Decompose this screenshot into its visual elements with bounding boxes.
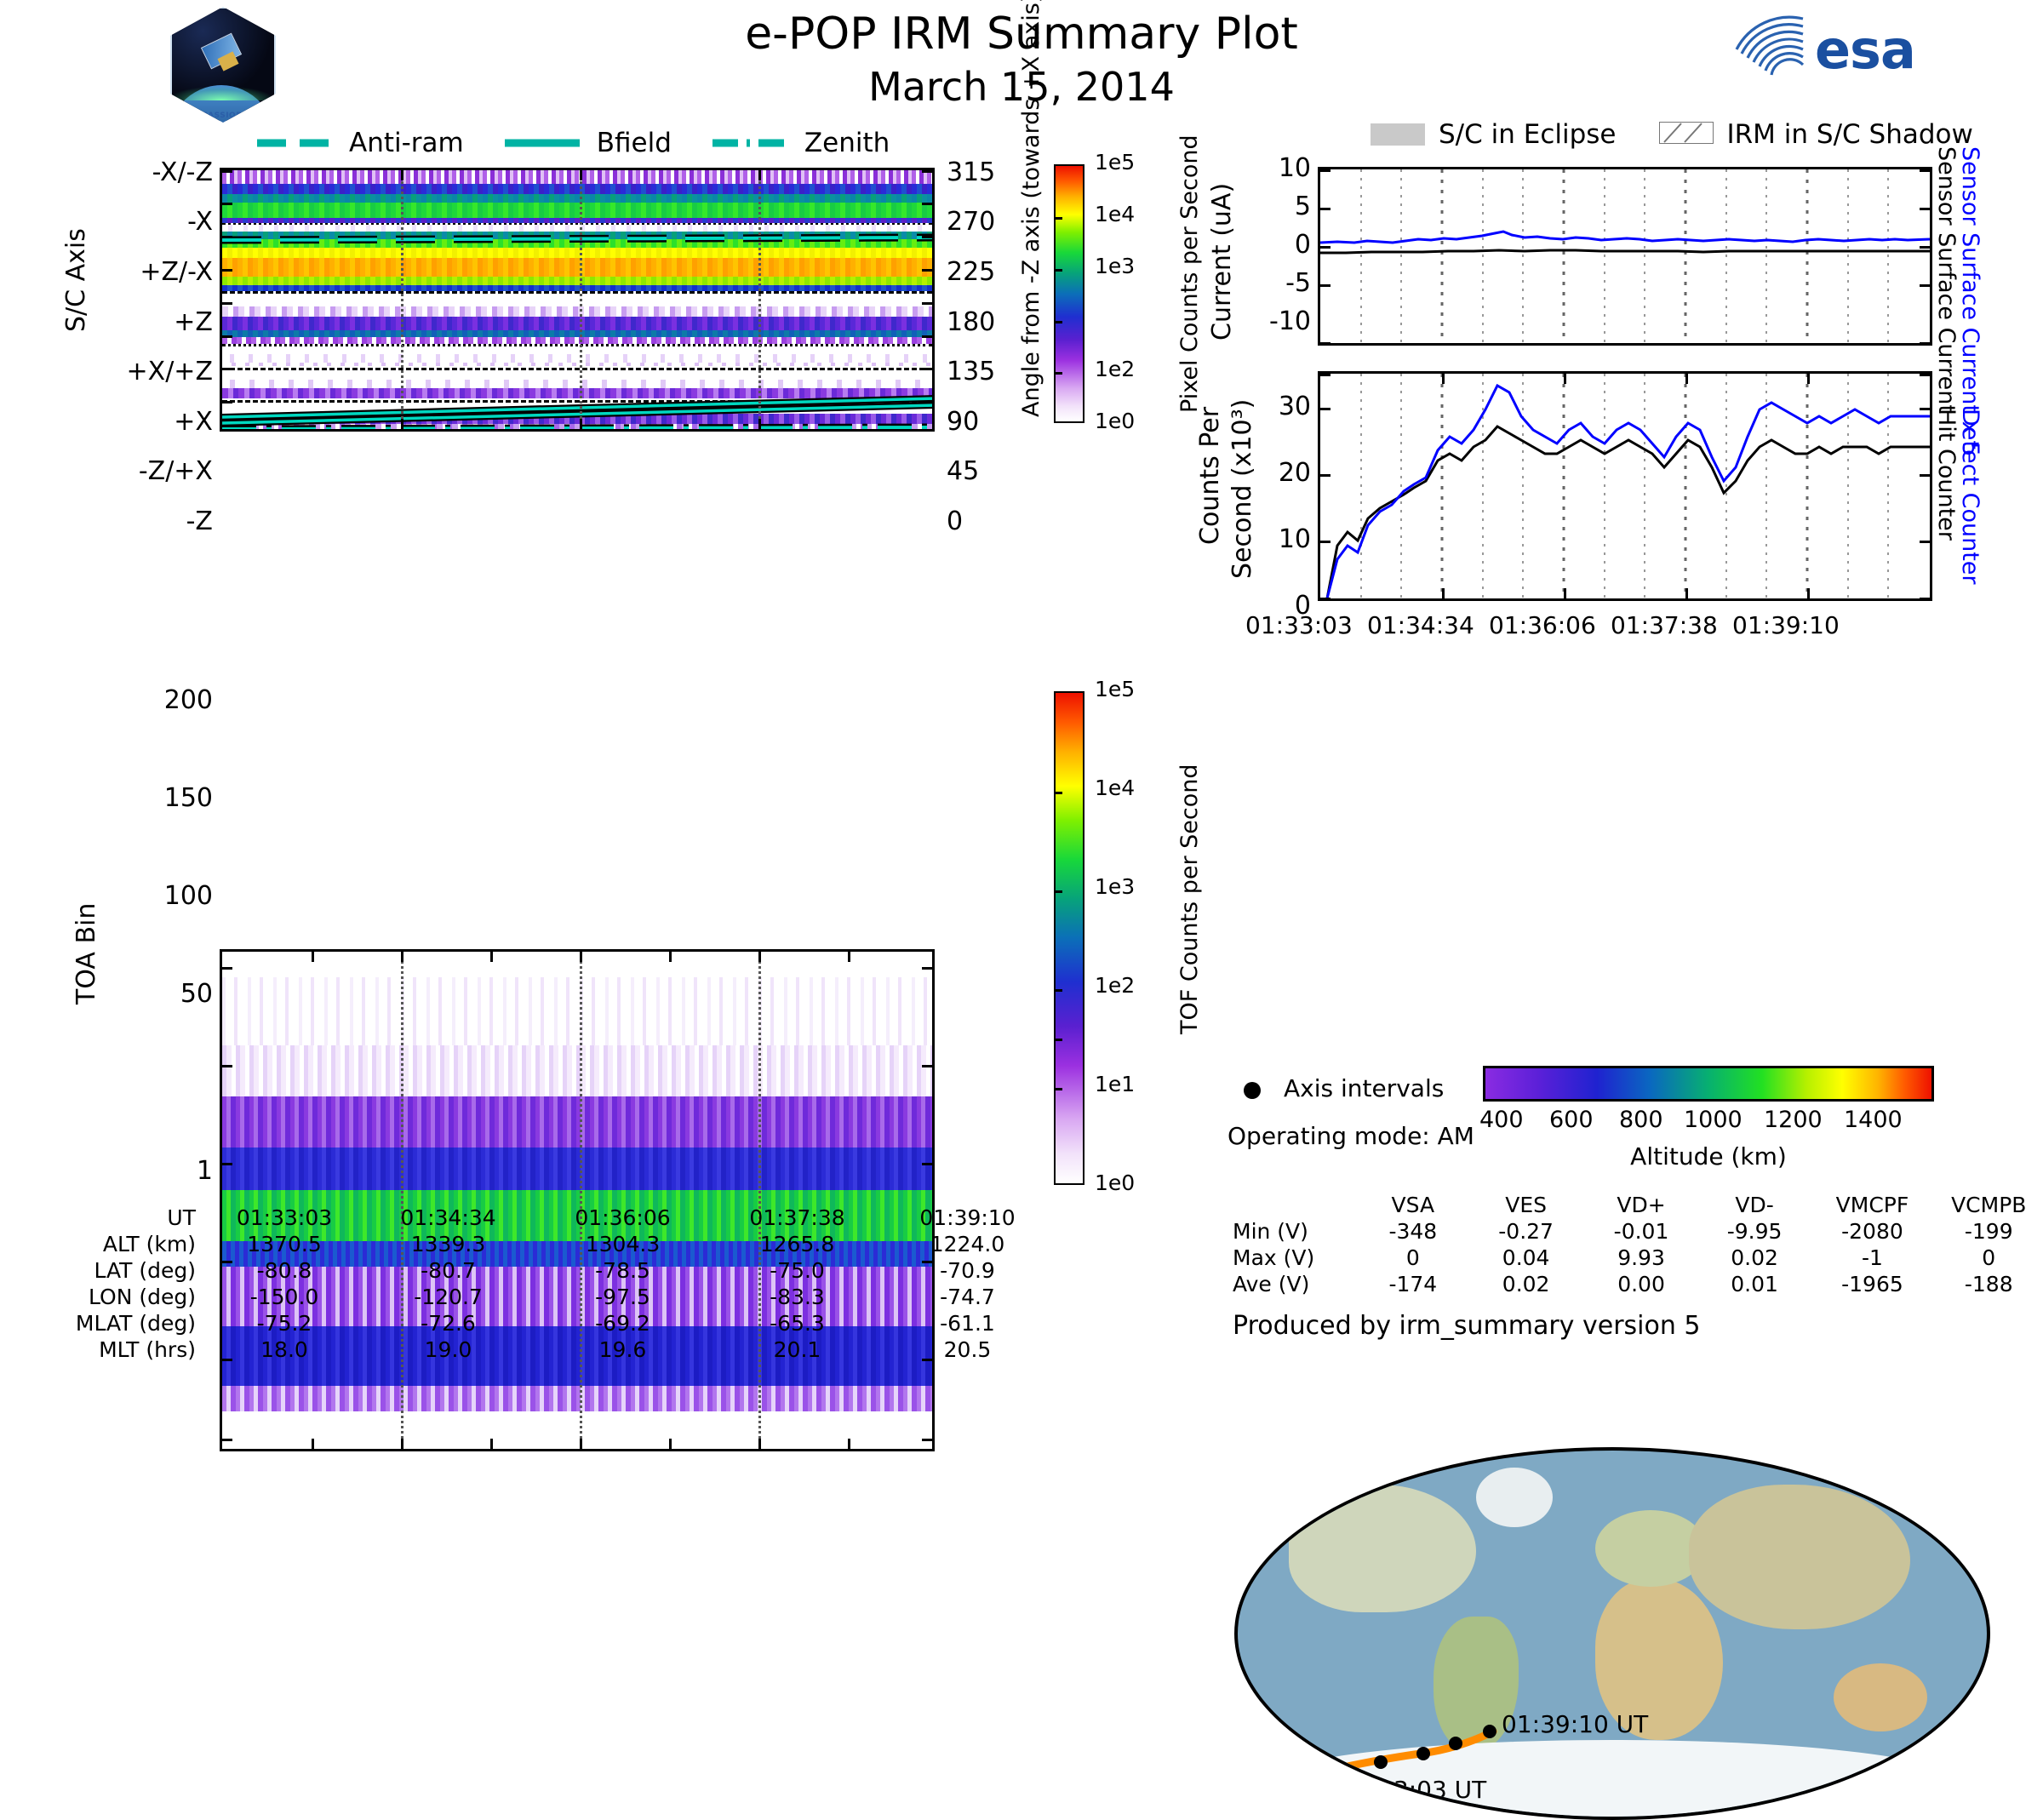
map-marker-legend: Axis intervals bbox=[1243, 1074, 1444, 1102]
cell: 0.01 bbox=[1699, 1271, 1811, 1297]
cell: 18.0 bbox=[208, 1336, 361, 1363]
table-row: LAT (deg) -80.8 -80.7 -78.5 -75.0 -70.9 bbox=[26, 1257, 1050, 1284]
legend-right: S/C in Eclipse IRM in S/C Shadow bbox=[1371, 119, 1973, 150]
sc-axis-ylabel: S/C Axis bbox=[61, 228, 91, 332]
row-label: MLAT (deg) bbox=[26, 1310, 208, 1336]
hit-counter-series bbox=[1327, 426, 1930, 598]
counts-ylabel-line1: Counts Per bbox=[1195, 407, 1225, 545]
ytick-6: -Z/+X bbox=[139, 456, 213, 486]
row-label: LAT (deg) bbox=[26, 1257, 208, 1284]
gridline bbox=[758, 952, 761, 1449]
table-row: MLAT (deg) -75.2 -72.6 -69.2 -65.3 -61.1 bbox=[26, 1310, 1050, 1336]
cell: 20.5 bbox=[884, 1336, 1050, 1363]
counts-ylabel-line2: Second (x10³) bbox=[1228, 399, 1257, 579]
sc-axis-right-label: Angle from -Z axis (towards +X axis) bbox=[1018, 0, 1044, 417]
table-row: LON (deg) -150.0 -120.7 -97.5 -83.3 -74.… bbox=[26, 1284, 1050, 1310]
row-label: MLT (hrs) bbox=[26, 1336, 208, 1363]
cell: -348 bbox=[1358, 1218, 1468, 1245]
ytick-right-4: 135 bbox=[947, 357, 995, 386]
toa-band bbox=[222, 1386, 932, 1411]
cell: 19.6 bbox=[535, 1336, 710, 1363]
current-right-label-black: Sensor Surface Current bbox=[1933, 146, 1960, 414]
cell: 0.04 bbox=[1468, 1245, 1583, 1271]
track-marker bbox=[1483, 1725, 1496, 1738]
track-marker bbox=[1325, 1763, 1338, 1777]
legend-left: Anti-ram Bfield Zenith bbox=[255, 128, 890, 158]
cell: -61.1 bbox=[884, 1310, 1050, 1336]
cell: -75.2 bbox=[208, 1310, 361, 1336]
alt-tick: 1400 bbox=[1844, 1107, 1903, 1133]
toa-band bbox=[222, 1096, 932, 1148]
cell: -72.6 bbox=[361, 1310, 535, 1336]
cb-tick: 1e3 bbox=[1095, 874, 1135, 899]
cb-tick: 1e1 bbox=[1095, 1072, 1135, 1096]
track-start-label: 01:33:03 UT bbox=[1340, 1776, 1486, 1804]
cur-ytick: 5 bbox=[1295, 192, 1311, 221]
time-tick: 01:37:38 bbox=[1611, 611, 1718, 639]
table-row: MLT (hrs) 18.0 19.0 19.6 20.1 20.5 bbox=[26, 1336, 1050, 1363]
cell: 1224.0 bbox=[884, 1231, 1050, 1257]
sc-axis-spectrogram[interactable] bbox=[220, 168, 935, 432]
col-header: VMCPF bbox=[1810, 1192, 1934, 1218]
overlay-lines bbox=[222, 170, 935, 432]
voltage-table: VSA VES VD+ VD- VMCPF VCMPB Min (V) -348… bbox=[1233, 1192, 2043, 1297]
col-header: VSA bbox=[1358, 1192, 1468, 1218]
cell: -75.0 bbox=[710, 1257, 884, 1284]
cnt-ytick: 10 bbox=[1279, 524, 1311, 554]
col-header: VD+ bbox=[1583, 1192, 1698, 1218]
cell: 0.02 bbox=[1699, 1245, 1811, 1271]
legend-swatch-shadow bbox=[1659, 122, 1714, 147]
cell: -1 bbox=[1810, 1245, 1934, 1271]
cb-tick: 1e3 bbox=[1095, 254, 1135, 278]
col-header: VCMPB bbox=[1934, 1192, 2043, 1218]
esa-wordmark: esa bbox=[1815, 19, 1915, 81]
row-label: LON (deg) bbox=[26, 1284, 208, 1310]
ytick-right-7: 0 bbox=[947, 507, 963, 536]
toa-ytick: 50 bbox=[180, 979, 213, 1009]
cb-tick: 1e4 bbox=[1095, 776, 1135, 800]
cell: -199 bbox=[1934, 1218, 2043, 1245]
cb-tick: 1e5 bbox=[1095, 150, 1135, 175]
cell: -9.95 bbox=[1699, 1218, 1811, 1245]
table-header-row: VSA VES VD+ VD- VMCPF VCMPB bbox=[1233, 1192, 2043, 1218]
cur-ytick: -10 bbox=[1269, 306, 1311, 336]
ytick-4: +X/+Z bbox=[127, 357, 213, 386]
altitude-colorbar-label: Altitude (km) bbox=[1483, 1142, 1934, 1170]
cell: 1339.3 bbox=[361, 1231, 535, 1257]
badge-text: CASSIOPE bbox=[172, 112, 276, 120]
legend-swatch-zenith bbox=[711, 135, 789, 152]
ytick-right-6: 45 bbox=[947, 456, 979, 486]
alt-tick: 1200 bbox=[1764, 1107, 1823, 1133]
gridline bbox=[580, 170, 582, 429]
ytick-1: -X bbox=[187, 207, 213, 237]
ytick-0: -X/-Z bbox=[152, 157, 213, 187]
axis-interval-dot-icon bbox=[1243, 1078, 1265, 1100]
ephemeris-table: UT 01:33:03 01:34:34 01:36:06 01:37:38 0… bbox=[26, 1205, 1050, 1363]
table-row: ALT (km) 1370.5 1339.3 1304.3 1265.8 122… bbox=[26, 1231, 1050, 1257]
row-label: Ave (V) bbox=[1233, 1271, 1358, 1297]
track-marker bbox=[1449, 1737, 1462, 1750]
row-label: Min (V) bbox=[1233, 1218, 1358, 1245]
alt-tick: 600 bbox=[1549, 1107, 1594, 1133]
alt-tick: 800 bbox=[1619, 1107, 1663, 1133]
current-black-series bbox=[1320, 250, 1930, 253]
cb-tick: 1e2 bbox=[1095, 973, 1135, 998]
cell: 0.00 bbox=[1583, 1271, 1698, 1297]
ytick-2: +Z/-X bbox=[140, 257, 213, 287]
cell: -2080 bbox=[1810, 1218, 1934, 1245]
legend-swatch-anti-ram bbox=[255, 135, 334, 152]
altitude-colorbar bbox=[1483, 1066, 1934, 1102]
cur-ytick: -5 bbox=[1285, 268, 1311, 298]
detect-counter-series bbox=[1327, 386, 1930, 598]
time-tick: 01:36:06 bbox=[1489, 611, 1596, 639]
cell: 01:34:34 bbox=[361, 1205, 535, 1231]
row-label: Max (V) bbox=[1233, 1245, 1358, 1271]
cell: 01:33:03 bbox=[208, 1205, 361, 1231]
cell: 1370.5 bbox=[208, 1231, 361, 1257]
ytick-right-2: 225 bbox=[947, 257, 995, 287]
pixel-colorbar-label: Pixel Counts per Second bbox=[1176, 134, 1203, 413]
gridline bbox=[580, 952, 582, 1449]
toa-ytick: 100 bbox=[164, 881, 213, 911]
cell: -83.3 bbox=[710, 1284, 884, 1310]
pixel-counts-colorbar bbox=[1054, 164, 1084, 423]
legend-swatch-bfield bbox=[503, 135, 581, 152]
time-tick: 01:39:10 bbox=[1732, 611, 1840, 639]
footer-text: Produced by irm_summary version 5 bbox=[1233, 1311, 1700, 1341]
cell: -188 bbox=[1934, 1271, 2043, 1297]
current-ylabel: Current (uA) bbox=[1207, 183, 1237, 341]
legend-label-bfield: Bfield bbox=[597, 128, 672, 158]
world-map[interactable]: 01:39:10 UT 01:33:03 UT bbox=[1234, 1447, 1990, 1820]
operating-mode: Operating mode: AM bbox=[1228, 1122, 1474, 1150]
cb-tick: 1e4 bbox=[1095, 202, 1135, 226]
toa-bin-spectrogram[interactable] bbox=[220, 949, 935, 1451]
legend-label-anti-ram: Anti-ram bbox=[349, 128, 464, 158]
cell: 19.0 bbox=[361, 1336, 535, 1363]
time-tick: 01:34:34 bbox=[1367, 611, 1474, 639]
ytick-right-3: 180 bbox=[947, 307, 995, 337]
cell: -150.0 bbox=[208, 1284, 361, 1310]
cb-tick: 1e0 bbox=[1095, 1170, 1135, 1195]
ytick-7: -Z bbox=[186, 507, 213, 536]
toa-band bbox=[222, 977, 932, 1045]
toa-ytick: 200 bbox=[164, 685, 213, 715]
cell: 0 bbox=[1358, 1245, 1468, 1271]
legend-label-shadow: IRM in S/C Shadow bbox=[1727, 119, 1973, 150]
cell: 01:39:10 bbox=[884, 1205, 1050, 1231]
esa-arc-icon bbox=[1728, 10, 1810, 89]
cell: -120.7 bbox=[361, 1284, 535, 1310]
cnt-ytick: 20 bbox=[1279, 458, 1311, 488]
cb-tick: 1e0 bbox=[1095, 409, 1135, 433]
cur-ytick: 10 bbox=[1279, 153, 1311, 183]
cell: -69.2 bbox=[535, 1310, 710, 1336]
table-row: Min (V) -348 -0.27 -0.01 -9.95 -2080 -19… bbox=[1233, 1218, 2043, 1245]
cell: -70.9 bbox=[884, 1257, 1050, 1284]
cell: -1965 bbox=[1810, 1271, 1934, 1297]
gridline bbox=[401, 952, 403, 1449]
gridline bbox=[401, 170, 403, 429]
cell: 01:37:38 bbox=[710, 1205, 884, 1231]
cell: -97.5 bbox=[535, 1284, 710, 1310]
legend-label-zenith: Zenith bbox=[804, 128, 890, 158]
toa-band bbox=[222, 1045, 932, 1096]
cell: -78.5 bbox=[535, 1257, 710, 1284]
mission-badge: CASSIOPE bbox=[170, 7, 276, 123]
toa-band bbox=[222, 1148, 932, 1190]
cb-tick: 1e5 bbox=[1095, 677, 1135, 701]
table-row: Ave (V) -174 0.02 0.00 0.01 -1965 -188 bbox=[1233, 1271, 2043, 1297]
ytick-right-1: 270 bbox=[947, 207, 995, 237]
map-legend-label: Axis intervals bbox=[1284, 1074, 1444, 1102]
track-marker bbox=[1374, 1755, 1388, 1769]
toa-ytick: 1 bbox=[197, 1156, 213, 1186]
ytick-5: +X bbox=[174, 407, 213, 437]
cell: 1304.3 bbox=[535, 1231, 710, 1257]
counts-right-label-black: Hit Counter bbox=[1933, 409, 1960, 541]
toa-ylabel: TOA Bin bbox=[72, 903, 101, 1004]
ytick-3: +Z bbox=[174, 307, 213, 337]
cell: -74.7 bbox=[884, 1284, 1050, 1310]
cell: 0.02 bbox=[1468, 1271, 1583, 1297]
legend-swatch-eclipse bbox=[1371, 123, 1425, 146]
cell: 01:36:06 bbox=[535, 1205, 710, 1231]
cb-tick: 1e2 bbox=[1095, 357, 1135, 381]
cell: 0 bbox=[1934, 1245, 2043, 1271]
track-end-label: 01:39:10 UT bbox=[1502, 1710, 1648, 1738]
row-label: ALT (km) bbox=[26, 1231, 208, 1257]
cell: -0.01 bbox=[1583, 1218, 1698, 1245]
cell: -80.8 bbox=[208, 1257, 361, 1284]
current-blue-series bbox=[1320, 232, 1930, 243]
col-header: VD- bbox=[1699, 1192, 1811, 1218]
table-row: UT 01:33:03 01:34:34 01:36:06 01:37:38 0… bbox=[26, 1205, 1050, 1231]
alt-tick: 1000 bbox=[1684, 1107, 1743, 1133]
cell: 9.93 bbox=[1583, 1245, 1698, 1271]
counts-plot[interactable] bbox=[1318, 371, 1932, 601]
current-plot[interactable] bbox=[1318, 167, 1932, 346]
cell: -0.27 bbox=[1468, 1218, 1583, 1245]
table-row: Max (V) 0 0.04 9.93 0.02 -1 0 bbox=[1233, 1245, 2043, 1271]
cell: -80.7 bbox=[361, 1257, 535, 1284]
counts-right-label-blue: Detect Counter bbox=[1957, 409, 1983, 585]
alt-tick: 400 bbox=[1479, 1107, 1524, 1133]
cell: 1265.8 bbox=[710, 1231, 884, 1257]
col-header: VES bbox=[1468, 1192, 1583, 1218]
cur-ytick: 0 bbox=[1295, 230, 1311, 260]
ytick-right-0: 315 bbox=[947, 157, 995, 187]
track-marker bbox=[1416, 1747, 1430, 1760]
cnt-ytick: 30 bbox=[1279, 392, 1311, 421]
time-tick: 01:33:03 bbox=[1245, 611, 1353, 639]
cell: 20.1 bbox=[710, 1336, 884, 1363]
cell: -65.3 bbox=[710, 1310, 884, 1336]
satellite-track bbox=[1238, 1451, 1987, 1817]
tof-colorbar-label: TOF Counts per Second bbox=[1176, 764, 1203, 1035]
tof-counts-colorbar bbox=[1054, 691, 1084, 1185]
row-label: UT bbox=[26, 1205, 208, 1231]
gridline bbox=[758, 170, 761, 429]
ytick-right-5: 90 bbox=[947, 407, 979, 437]
cell: -174 bbox=[1358, 1271, 1468, 1297]
legend-label-eclipse: S/C in Eclipse bbox=[1439, 119, 1617, 150]
esa-logo: esa bbox=[1728, 10, 1915, 89]
toa-ytick: 150 bbox=[164, 783, 213, 813]
